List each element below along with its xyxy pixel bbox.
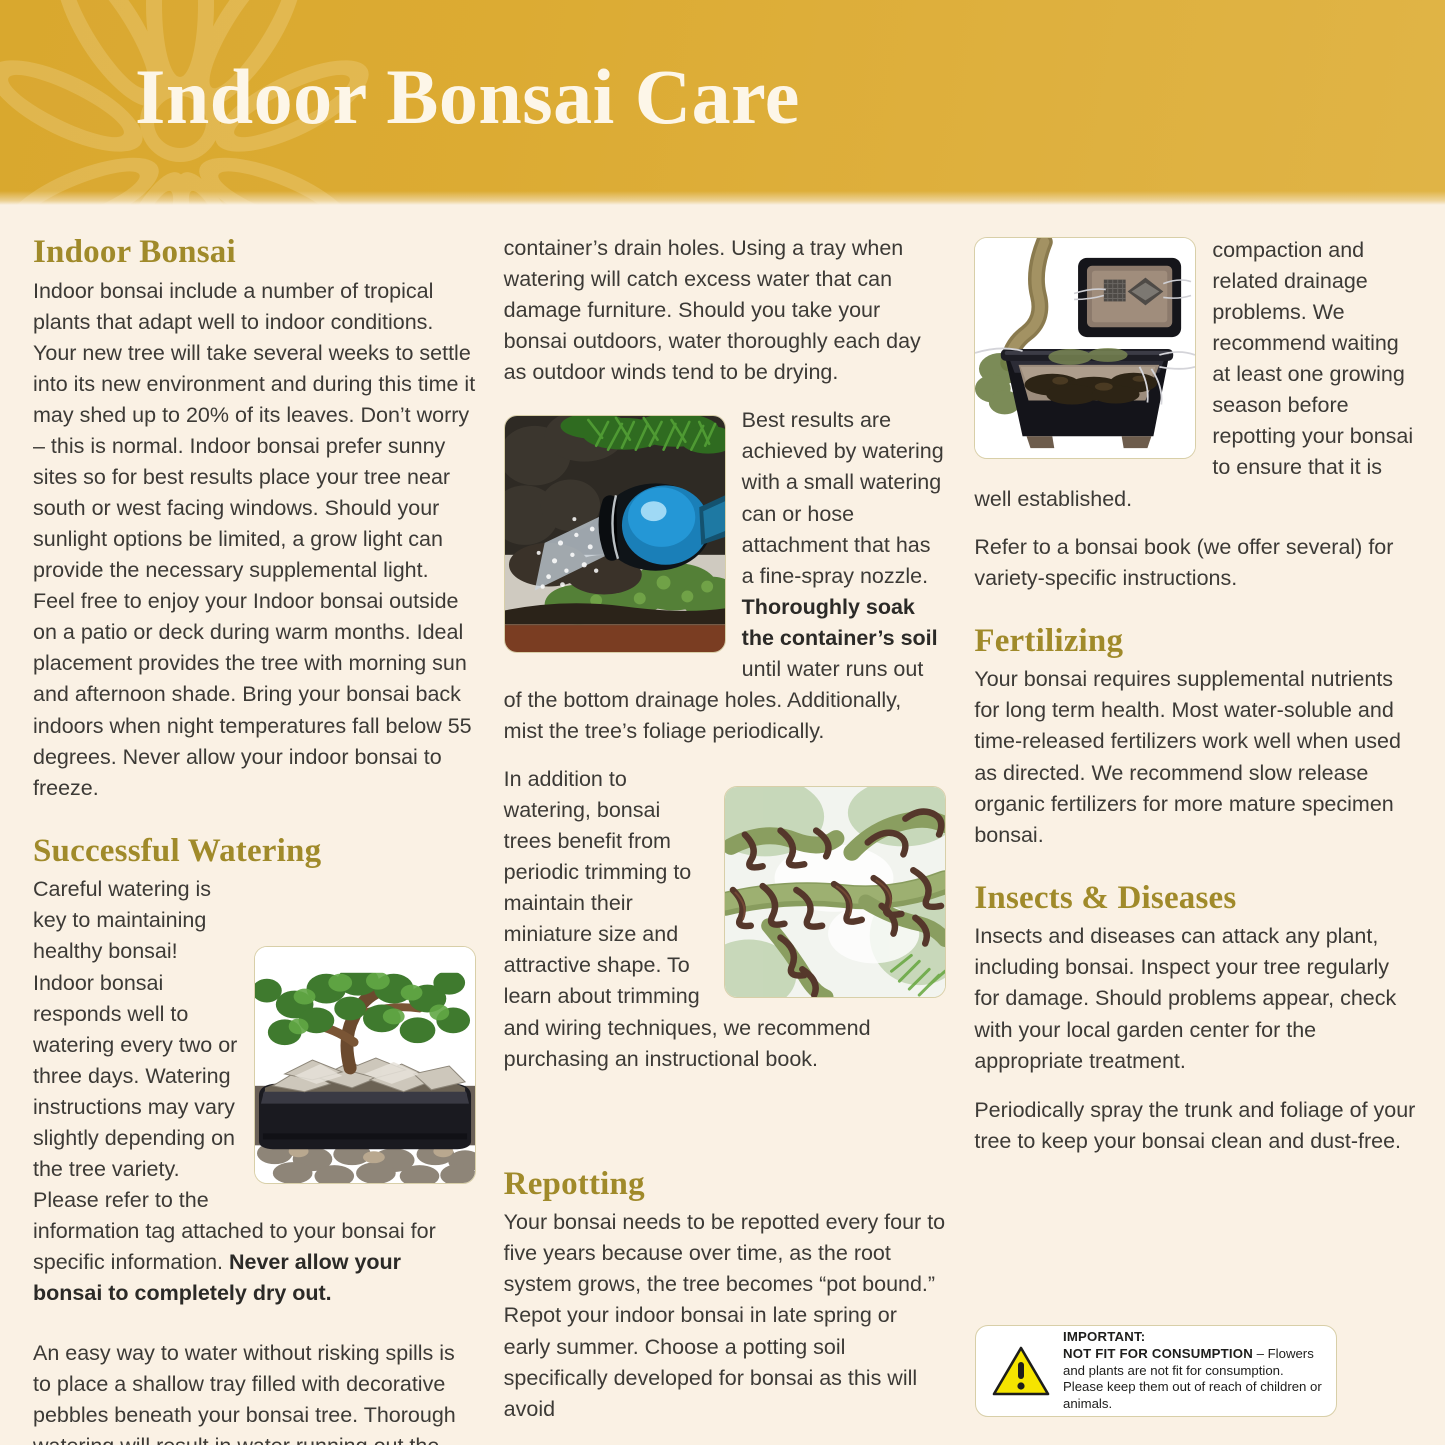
warning-triangle-icon xyxy=(992,1345,1050,1397)
paragraph-insects-1: Insects and diseases can attack any plan… xyxy=(974,921,1417,1076)
document-page: Indoor Bonsai Care Indoor Bonsai Indoor … xyxy=(0,0,1445,1445)
photo-jade-bonsai xyxy=(254,946,476,1184)
photo-repotting-pot xyxy=(974,237,1196,459)
paragraph-fertilizing: Your bonsai requires supplemental nutrie… xyxy=(974,664,1417,850)
heading-repotting: Repotting xyxy=(504,1167,947,1202)
page-title: Indoor Bonsai Care xyxy=(135,52,800,142)
paragraph-indoor-bonsai: Indoor bonsai include a number of tropic… xyxy=(33,276,476,804)
paragraph-repotting-1: Your bonsai needs to be repotted every f… xyxy=(504,1207,947,1424)
watering-4-pre: Best results are achieved by watering wi… xyxy=(742,408,944,587)
photo-watering-nozzle xyxy=(504,415,726,653)
heading-insects-diseases: Insects & Diseases xyxy=(974,881,1417,916)
paragraph-watering-3: container’s drain holes. Using a tray wh… xyxy=(504,233,947,388)
paragraph-watering-2: An easy way to water without risking spi… xyxy=(33,1326,476,1445)
warning-text: IMPORTANT: NOT FIT FOR CONSUMPTION – Flo… xyxy=(1063,1329,1324,1413)
warning-dash: – xyxy=(1253,1346,1268,1361)
content-columns: Indoor Bonsai Indoor bonsai include a nu… xyxy=(0,205,1445,1445)
column-middle: container’s drain holes. Using a tray wh… xyxy=(504,235,947,1442)
column-right: compaction and related drainage problems… xyxy=(974,235,1417,1174)
warning-subject: NOT FIT FOR CONSUMPTION xyxy=(1063,1346,1253,1361)
heading-indoor-bonsai: Indoor Bonsai xyxy=(33,235,476,270)
heading-successful-watering: Successful Watering xyxy=(33,834,476,869)
watering-4-post: until water runs out of the bottom drain… xyxy=(504,657,924,743)
warning-box: IMPORTANT: NOT FIT FOR CONSUMPTION – Flo… xyxy=(975,1325,1337,1417)
column-left: Indoor Bonsai Indoor bonsai include a nu… xyxy=(33,235,476,1445)
warning-heading: IMPORTANT: xyxy=(1063,1329,1145,1344)
paragraph-insects-2: Periodically spray the trunk and foliage… xyxy=(974,1095,1417,1157)
photo-wiring-branches xyxy=(724,786,946,998)
heading-fertilizing: Fertilizing xyxy=(974,624,1417,659)
page-header: Indoor Bonsai Care xyxy=(0,0,1445,205)
header-fade xyxy=(0,191,1445,205)
watering-4-bold: Thoroughly soak the container’s soil xyxy=(742,595,938,650)
paragraph-repotting-3: Refer to a bonsai book (we offer several… xyxy=(974,532,1417,594)
